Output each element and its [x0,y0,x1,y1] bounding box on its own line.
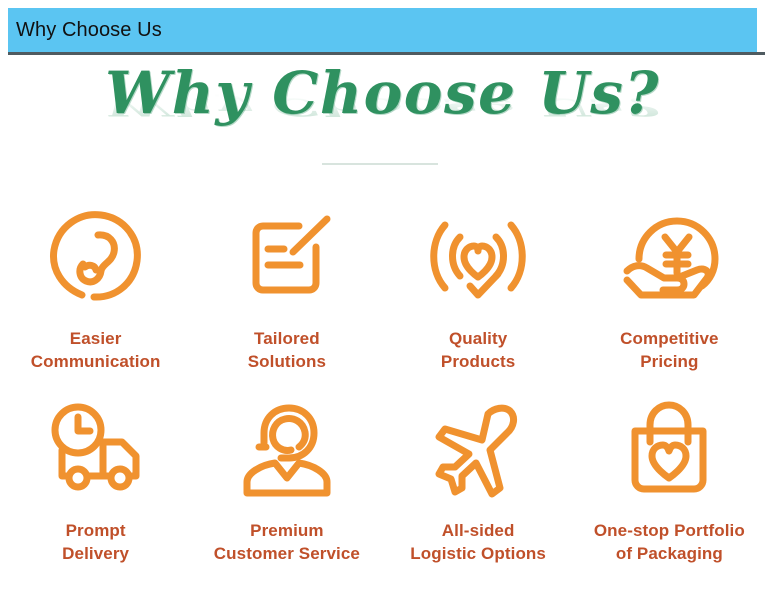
window-title: Why Choose Us [16,20,162,40]
banner-divider [322,163,438,165]
feature-label: Quality Products [441,328,515,374]
feature-item-easier-communication[interactable]: Easier Communication [0,196,191,392]
feature-item-quality-products[interactable]: Quality Products [383,196,574,392]
feature-item-all-sided-logistic-options[interactable]: All-sided Logistic Options [383,392,574,588]
window-header-bar: Why Choose Us [8,8,757,52]
feature-label: Competitive Pricing [620,328,718,374]
banner-title: Why Choose Us? [105,64,660,123]
feature-label: Premium Customer Service [214,520,360,566]
banner-title-wrap: Why Choose Us? Why Choose Us? [0,64,765,178]
shopping-bag-heart-icon [614,398,724,502]
heart-waves-check-icon [423,202,533,312]
delivery-truck-clock-icon [41,398,151,502]
document-pencil-icon [232,202,342,312]
headset-agent-icon [232,398,342,502]
feature-label: Prompt Delivery [62,520,129,566]
feature-grid: Easier Communication Tailored Solutions [0,196,765,588]
feature-item-tailored-solutions[interactable]: Tailored Solutions [191,196,382,392]
header-divider-rule [8,52,765,55]
feature-item-one-stop-portfolio-of-packaging[interactable]: One-stop Portfolio of Packaging [574,392,765,588]
ear-in-circle-icon [41,202,151,312]
hand-yen-coin-icon [614,202,724,312]
feature-label: All-sided Logistic Options [410,520,546,566]
feature-label: Tailored Solutions [248,328,326,374]
feature-item-prompt-delivery[interactable]: Prompt Delivery [0,392,191,588]
feature-item-premium-customer-service[interactable]: Premium Customer Service [191,392,382,588]
banner: Why Choose Us? Why Choose Us? [0,58,765,176]
feature-item-competitive-pricing[interactable]: Competitive Pricing [574,196,765,392]
feature-label: Easier Communication [31,328,161,374]
feature-label: One-stop Portfolio of Packaging [594,520,745,566]
airplane-icon [423,398,533,502]
